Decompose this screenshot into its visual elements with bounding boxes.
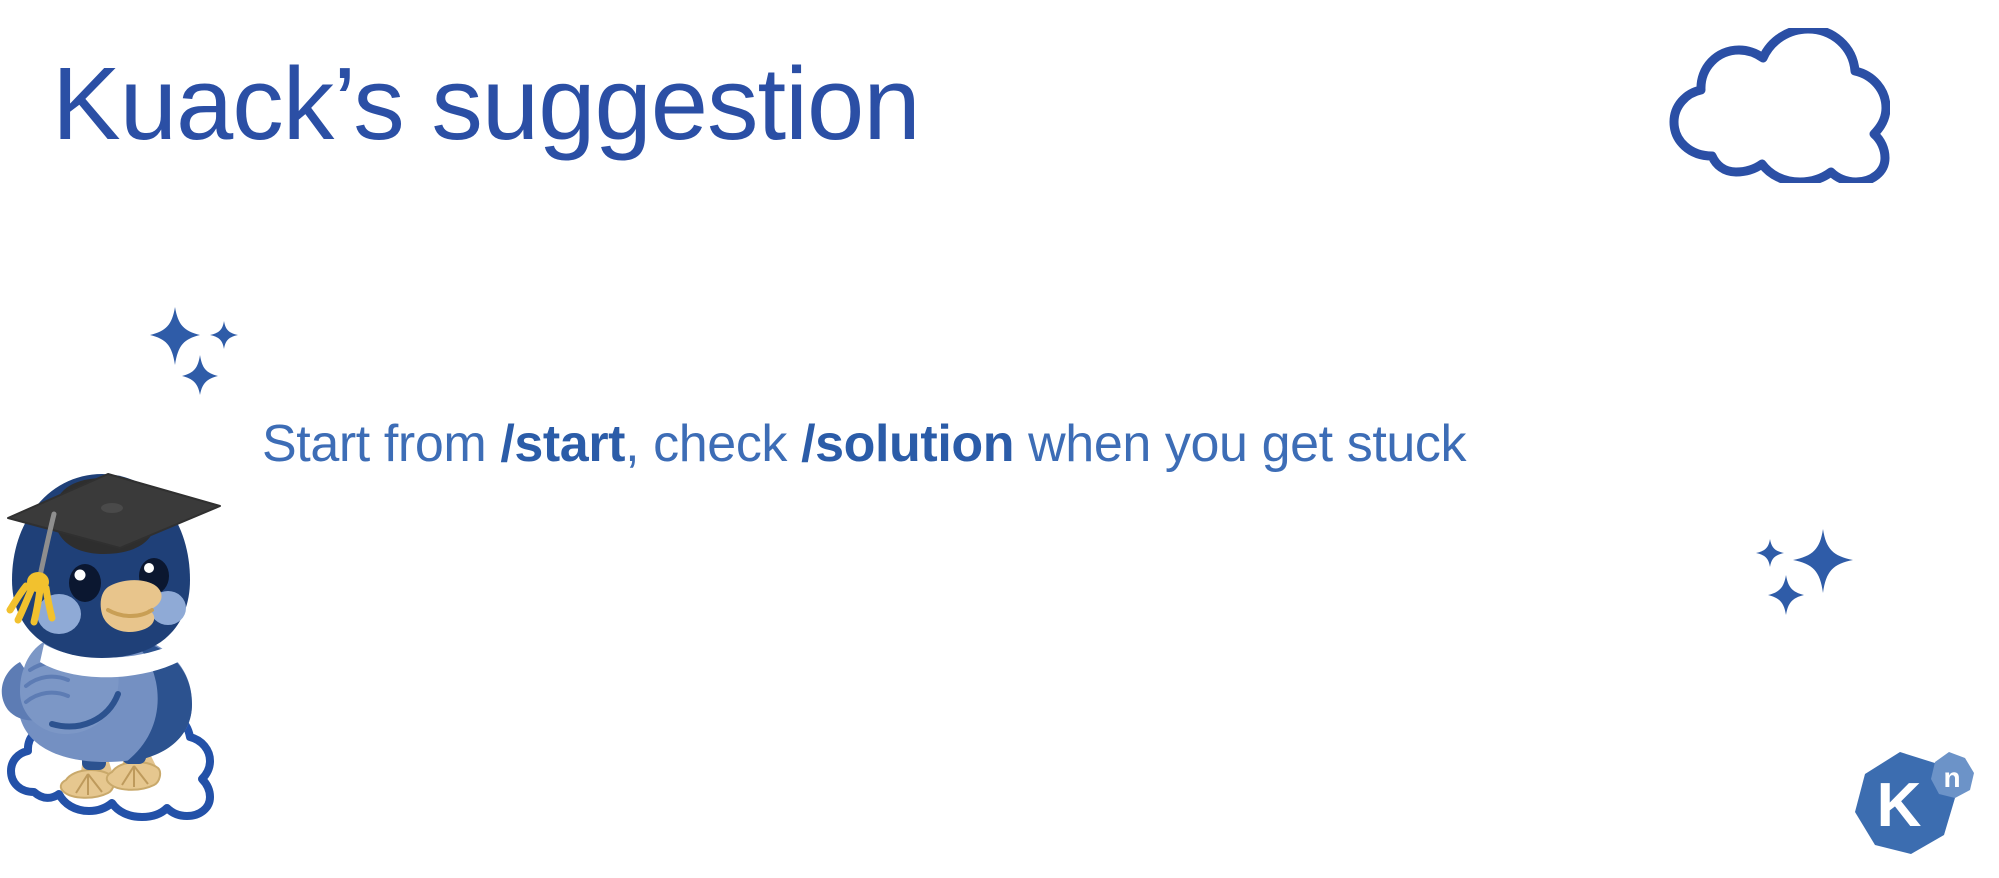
sparkle-small [1756,539,1784,567]
page-title: Kuack’s suggestion [52,52,920,155]
eye-left [69,564,101,602]
subtitle-suffix: when you get stuck [1014,415,1466,473]
sparkle-medium [182,355,218,395]
sparkle-large [150,307,200,365]
command-start: /start [500,415,625,473]
sparkle-cluster-left [148,305,244,395]
sparkle-small [210,321,238,349]
subtitle-line: Start from /start, check /solution when … [262,413,1466,475]
command-solution: /solution [801,415,1014,473]
logo-letter-n: n [1943,762,1960,793]
sparkle-cluster-right [1748,525,1858,620]
sparkle-medium [1768,575,1804,615]
cheek-left [37,594,81,634]
cloud-outline-icon [1660,28,1890,183]
logo-letter-k: K [1877,771,1922,840]
subtitle-middle: , check [625,415,801,473]
kuack-duck-mascot [0,462,236,878]
slide-canvas: Kuack’s suggestion Start from /start, [0,0,1999,878]
kn-logo: K n [1845,746,1977,864]
subtitle-prefix: Start from [262,415,500,473]
sparkle-large [1793,529,1853,593]
